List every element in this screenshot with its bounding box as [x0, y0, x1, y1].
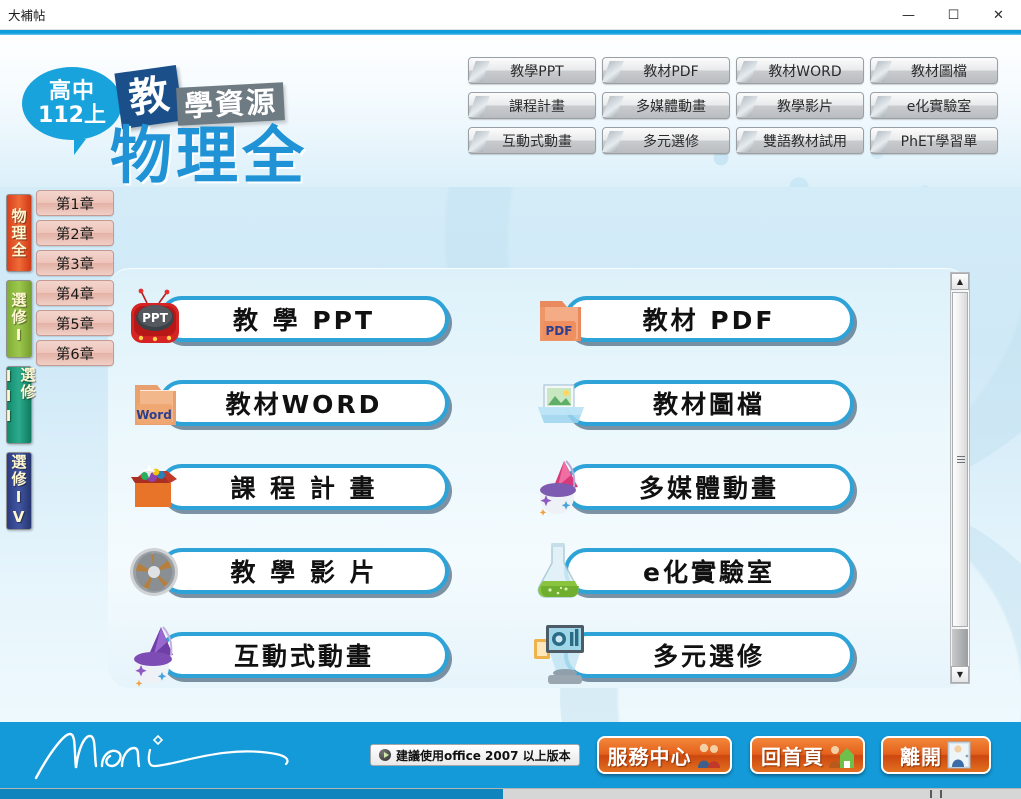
- office-note-label: 建議使用office 2007 以上版本: [396, 747, 571, 764]
- exit-door-icon: [946, 741, 972, 769]
- resource-button-pill: 教材WORD: [159, 380, 449, 426]
- resource-button-pill: 教 學 PPT: [159, 296, 449, 342]
- top-button-elective[interactable]: 多元選修: [602, 127, 730, 154]
- top-button-ppt[interactable]: 教學PPT: [468, 57, 596, 84]
- maximize-button[interactable]: ☐: [931, 0, 976, 30]
- teach-badge-label: 教: [126, 74, 171, 119]
- exit-button[interactable]: 離開: [881, 736, 991, 774]
- sidebar-tab-elective-4[interactable]: 選修IV: [6, 452, 32, 530]
- resource-button-pill: 教 學 影 片: [159, 548, 449, 594]
- service-center-label: 服務中心: [608, 741, 692, 770]
- top-button-course-plan[interactable]: 課程計畫: [468, 92, 596, 119]
- sidebar-tab-elective-1[interactable]: 選修I: [6, 280, 32, 358]
- top-button-label: 雙語教材試用: [753, 131, 847, 151]
- office-version-note: 建議使用office 2007 以上版本: [370, 744, 580, 766]
- top-button-label: e化實驗室: [897, 96, 972, 116]
- sidebar-tab-physics[interactable]: 物理全: [6, 194, 32, 272]
- top-button-elab[interactable]: e化實驗室: [870, 92, 998, 119]
- svg-text:PDF: PDF: [546, 324, 573, 338]
- top-button-pdf[interactable]: 教材PDF: [602, 57, 730, 84]
- chapter-button-1[interactable]: 第1章: [36, 190, 114, 216]
- resource-button-pill: 教材 PDF: [564, 296, 854, 342]
- play-icon: [379, 749, 391, 761]
- resource-button-pill: 課 程 計 畫: [159, 464, 449, 510]
- top-button-label: 多元選修: [633, 131, 699, 151]
- grade-label: 高中: [49, 80, 95, 103]
- term-label: 112上: [38, 104, 106, 127]
- resource-button-multimedia[interactable]: 多媒體動畫: [530, 455, 860, 521]
- sidebar-tab-elective-3[interactable]: 選修III: [6, 366, 32, 444]
- resource-button-elective[interactable]: 多元選修: [530, 623, 860, 689]
- resource-button-label: 多元選修: [653, 637, 765, 673]
- chapter-button-6[interactable]: 第6章: [36, 340, 114, 366]
- resource-button-label: 課 程 計 畫: [230, 469, 377, 505]
- pdf-folder-icon: PDF: [530, 287, 592, 353]
- top-button-label: 多媒體動畫: [626, 96, 706, 116]
- resource-button-pill: 多元選修: [564, 632, 854, 678]
- scroll-down-arrow[interactable]: ▼: [951, 666, 969, 683]
- top-button-video[interactable]: 教學影片: [736, 92, 864, 119]
- resource-button-label: e化實驗室: [643, 553, 775, 589]
- top-button-label: PhET學習單: [891, 131, 978, 151]
- content-stage: PPT 教 學 PPT PDF: [0, 187, 1021, 722]
- top-button-images[interactable]: 教材圖檔: [870, 57, 998, 84]
- resource-button-course-plan[interactable]: 課 程 計 畫: [125, 455, 455, 521]
- film-reel-icon: [125, 539, 187, 605]
- resource-button-ppt[interactable]: PPT 教 學 PPT: [125, 287, 455, 353]
- image-tray-icon: [530, 371, 592, 437]
- application-window: 大補帖 — ☐ ✕ 高中 112上 教 學資源 物理全 教學PPT 教材PDF: [0, 0, 1021, 799]
- chapter-button-3[interactable]: 第3章: [36, 250, 114, 276]
- page-title: 物理全: [110, 125, 308, 187]
- resource-button-pill: 互動式動畫: [159, 632, 449, 678]
- top-button-label: 教材PDF: [633, 61, 698, 81]
- taskbar-highlight: [0, 789, 503, 799]
- chapter-button-4[interactable]: 第4章: [36, 280, 114, 306]
- resource-button-label: 教材圖檔: [653, 385, 765, 421]
- tv-ppt-icon: PPT: [125, 287, 187, 353]
- scroll-thumb[interactable]: [952, 292, 968, 627]
- service-people-icon: [696, 741, 722, 769]
- top-button-label: 課程計畫: [499, 96, 565, 116]
- scroll-track-below[interactable]: [952, 629, 968, 666]
- top-button-word[interactable]: 教材WORD: [736, 57, 864, 84]
- word-folder-icon: Word: [125, 371, 187, 437]
- magic-hat-purple-icon: [125, 623, 187, 689]
- top-button-label: 互動式動畫: [492, 131, 572, 151]
- treasure-box-icon: [125, 455, 187, 521]
- top-button-grid: 教學PPT 教材PDF 教材WORD 教材圖檔 課程計畫 多媒體動畫 教學影片 …: [468, 57, 1001, 154]
- taskbar-tick: [930, 790, 932, 798]
- chapter-list: 第1章 第2章 第3章 第4章 第5章 第6章: [36, 190, 114, 370]
- resource-button-interactive[interactable]: 互動式動畫: [125, 623, 455, 689]
- top-button-phet[interactable]: PhET學習單: [870, 127, 998, 154]
- resource-button-images[interactable]: 教材圖檔: [530, 371, 860, 437]
- resource-button-pill: 多媒體動畫: [564, 464, 854, 510]
- resource-button-label: 多媒體動畫: [639, 469, 779, 505]
- resource-button-elab[interactable]: e化實驗室: [530, 539, 860, 605]
- top-button-multimedia[interactable]: 多媒體動畫: [602, 92, 730, 119]
- resource-band-label: 學資源: [183, 87, 277, 121]
- home-label: 回首頁: [761, 741, 824, 770]
- scroll-up-arrow[interactable]: ▲: [951, 273, 969, 290]
- header-banner: 高中 112上 教 學資源 物理全 教學PPT 教材PDF 教材WORD 教材圖…: [0, 35, 1021, 187]
- resource-button-pill: e化實驗室: [564, 548, 854, 594]
- window-controls: — ☐ ✕: [886, 0, 1021, 30]
- content-scrollbar[interactable]: ▲ ▼: [950, 272, 970, 684]
- resource-button-pill: 教材圖檔: [564, 380, 854, 426]
- svg-text:PPT: PPT: [142, 311, 169, 325]
- svg-text:Word: Word: [136, 408, 172, 422]
- top-button-label: 教材WORD: [758, 61, 841, 81]
- resource-button-label: 教 學 PPT: [233, 301, 375, 337]
- exit-label: 離開: [900, 741, 942, 770]
- close-button[interactable]: ✕: [976, 0, 1021, 30]
- chapter-button-5[interactable]: 第5章: [36, 310, 114, 336]
- nani-logo: [24, 726, 324, 784]
- resource-button-pdf[interactable]: PDF 教材 PDF: [530, 287, 860, 353]
- title-bar: 大補帖 — ☐ ✕: [0, 0, 1021, 30]
- grade-bubble: 高中 112上: [22, 67, 122, 140]
- resource-button-video[interactable]: 教 學 影 片: [125, 539, 455, 605]
- window-title: 大補帖: [0, 5, 46, 24]
- minimize-button[interactable]: —: [886, 0, 931, 30]
- product-logo: 高中 112上 教 學資源 物理全: [22, 47, 442, 187]
- chapter-button-2[interactable]: 第2章: [36, 220, 114, 246]
- resource-button-label: 教材 PDF: [643, 301, 776, 337]
- taskbar-tick: [940, 790, 942, 798]
- resource-button-label: 教 學 影 片: [230, 553, 377, 589]
- resource-button-word[interactable]: Word 教材WORD: [125, 371, 455, 437]
- top-button-interactive[interactable]: 互動式動畫: [468, 127, 596, 154]
- home-button[interactable]: 回首頁: [750, 736, 865, 774]
- resource-button-label: 互動式動畫: [234, 637, 374, 673]
- resource-button-grid: PPT 教 學 PPT PDF: [125, 287, 925, 689]
- resource-button-label: 教材WORD: [226, 385, 383, 421]
- top-button-bilingual[interactable]: 雙語教材試用: [736, 127, 864, 154]
- top-button-label: 教學PPT: [500, 61, 563, 81]
- os-taskbar-strip: [0, 788, 1021, 799]
- flask-icon: [530, 539, 592, 605]
- top-button-label: 教材圖檔: [901, 61, 967, 81]
- service-center-button[interactable]: 服務中心: [597, 736, 732, 774]
- magic-hat-pink-icon: [530, 455, 592, 521]
- projector-icon: [530, 623, 592, 689]
- home-icon: [828, 741, 854, 769]
- footer-bar: 建議使用office 2007 以上版本 服務中心 回首頁: [0, 722, 1021, 788]
- left-sidebar: 物理全 選修I 選修III 選修IV 第1章 第2章 第3章 第4章 第5章 第…: [0, 190, 110, 722]
- top-button-label: 教學影片: [767, 96, 833, 116]
